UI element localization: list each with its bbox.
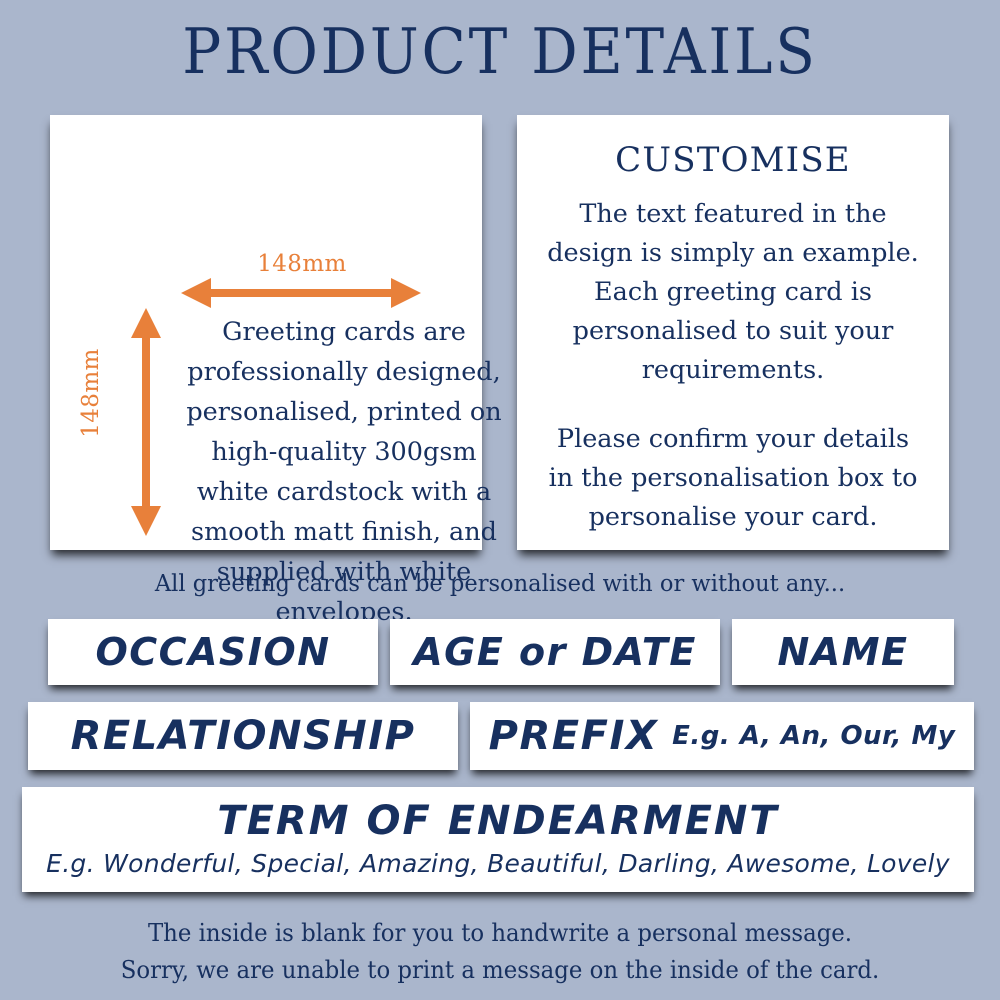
customise-description: The text featured in the design is simpl… <box>541 195 925 537</box>
page-title: PRODUCT DETAILS <box>40 14 960 90</box>
banner-age-or-date: AGE or DATE <box>390 619 720 685</box>
banner-relationship: RELATIONSHIP <box>28 702 458 770</box>
banner-relationship-label: RELATIONSHIP <box>71 713 416 759</box>
banner-name-label: NAME <box>778 630 909 674</box>
footer-line-1: The inside is blank for you to handwrite… <box>25 915 975 952</box>
banner-prefix-examples: E.g. A, An, Our, My <box>672 721 955 751</box>
banner-endearment-label: TERM OF ENDEARMENT <box>217 797 778 845</box>
banner-name: NAME <box>732 619 954 685</box>
footer-line-2: Sorry, we are unable to print a message … <box>25 952 975 989</box>
width-dimension-label: 148mm <box>186 251 418 277</box>
banner-prefix-label: PREFIX <box>489 713 659 759</box>
banner-occasion-label: OCCASION <box>95 630 330 674</box>
customise-card: CUSTOMISE The text featured in the desig… <box>517 115 949 550</box>
product-specification-card: 148mm 148mm Greeting cards are professio… <box>50 115 482 550</box>
customise-paragraph-1: The text featured in the design is simpl… <box>541 195 925 390</box>
infographic-canvas: PRODUCT DETAILS 148mm 148mm Greeting car… <box>0 0 1000 1000</box>
customise-heading: CUSTOMISE <box>517 139 949 181</box>
customise-paragraph-2: Please confirm your details in the perso… <box>541 420 925 537</box>
banner-prefix: PREFIX E.g. A, An, Our, My <box>470 702 974 770</box>
banner-age-or-date-label: AGE or DATE <box>413 630 697 674</box>
banner-occasion: OCCASION <box>48 619 378 685</box>
vertical-dimension-arrow-icon <box>128 308 164 536</box>
banner-term-of-endearment: TERM OF ENDEARMENT E.g. Wonderful, Speci… <box>22 787 974 892</box>
horizontal-dimension-arrow-icon <box>181 275 421 311</box>
footer-note: The inside is blank for you to handwrite… <box>25 915 975 989</box>
personalisation-subtitle: All greeting cards can be personalised w… <box>20 568 980 598</box>
banner-endearment-examples: E.g. Wonderful, Special, Amazing, Beauti… <box>46 845 950 883</box>
height-dimension-label: 148mm <box>78 338 104 448</box>
